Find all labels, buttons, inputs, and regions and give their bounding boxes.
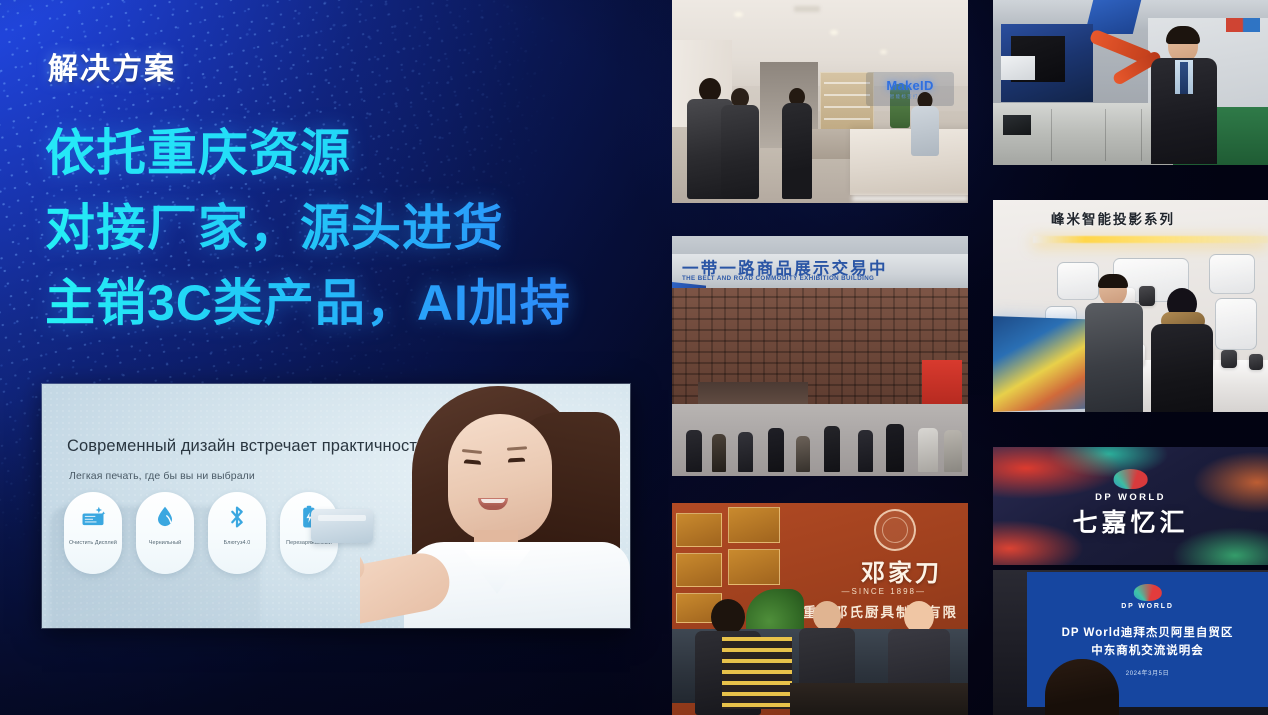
photo-dpworld-banner: DP WORLD 七嘉忆汇 bbox=[993, 447, 1268, 565]
dpworld-banner-headline: 七嘉忆汇 bbox=[1072, 503, 1188, 539]
screen-title-line-2: 中东商机交流说明会 bbox=[1091, 642, 1204, 658]
photo-makeid-lobby: MakeID 智能标签打印机 bbox=[672, 0, 968, 203]
solution-slide: 解决方案 依托重庆资源 对接厂家，源头进货 主销3C类产品，AI加持 Совре… bbox=[0, 0, 1268, 715]
photo-dpworld-screen: DP WORLD DP World迪拜杰贝阿里自贸区 中东商机交流说明会 202… bbox=[993, 570, 1268, 715]
photo-factory-robot bbox=[993, 0, 1268, 165]
feature-item-bluetooth: Блютуз4.0 bbox=[208, 492, 266, 574]
dengjiadao-since: —SINCE 1898— bbox=[842, 587, 926, 596]
display-clean-icon bbox=[79, 503, 107, 531]
section-eyebrow: 解决方案 bbox=[48, 44, 176, 88]
showroom-visitor-female bbox=[1151, 288, 1213, 412]
headline-block: 依托重庆资源 对接厂家，源头进货 主销3C类产品，AI加持 bbox=[45, 116, 665, 341]
dpworld-mark-icon bbox=[1133, 584, 1161, 601]
dpworld-logo: DP WORLD bbox=[1095, 469, 1166, 503]
slide-subtitle: Легкая печать, где бы вы ни выбрали bbox=[69, 470, 255, 482]
certification-sticker bbox=[1226, 18, 1260, 32]
headline-line-3: 主销3C类产品，AI加持 bbox=[45, 266, 665, 341]
headline-line-1: 依托重庆资源 bbox=[45, 116, 665, 191]
photo-belt-road-building: 一带一路商品展示交易中 THE BELT AND ROAD COMMODITY … bbox=[672, 236, 968, 476]
feature-item-ink: Чернильный bbox=[136, 492, 194, 574]
belt-road-sign-en: THE BELT AND ROAD COMMODITY EXHIBITION B… bbox=[682, 275, 874, 282]
feature-label: Чернильный bbox=[137, 540, 193, 547]
projector-series-sign: 峰米智能投影系列 bbox=[1051, 208, 1175, 228]
model-photo bbox=[360, 384, 630, 628]
company-seal-emblem bbox=[874, 509, 916, 551]
dpworld-wordmark: DP WORLD bbox=[1121, 603, 1173, 610]
feature-item-display-clean: Очистить Дисплей bbox=[64, 492, 122, 574]
dpworld-logo: DP WORLD bbox=[1121, 584, 1173, 610]
headline-line-2: 对接厂家，源头进货 bbox=[45, 191, 665, 266]
product-slide-mockup: Современный дизайн встречает практичност… bbox=[42, 384, 630, 628]
dpworld-mark-icon bbox=[1114, 469, 1148, 489]
screen-title-line-1: DP World迪拜杰贝阿里自贸区 bbox=[1062, 624, 1234, 640]
showroom-visitor-male bbox=[1085, 276, 1143, 412]
ink-drop-icon bbox=[151, 503, 179, 531]
bluetooth-icon bbox=[223, 503, 251, 531]
dpworld-wordmark: DP WORLD bbox=[1095, 492, 1166, 503]
dengjiadao-brand: 邓家刀 bbox=[861, 553, 942, 588]
photo-dengjiadao-meeting: 邓家刀 —SINCE 1898— 重庆邓氏厨具制造有限 bbox=[672, 503, 968, 715]
photo-projector-showroom: 峰米智能投影系列 bbox=[993, 200, 1268, 412]
feature-label: Очистить Дисплей bbox=[65, 540, 121, 547]
feature-list: Очистить Дисплей Чернильный Блютуз4 bbox=[64, 492, 338, 574]
screen-event-date: 2024年3月5日 bbox=[1126, 668, 1169, 677]
feature-label: Блютуз4.0 bbox=[209, 540, 265, 547]
makeid-logo-text: MakeID bbox=[886, 78, 933, 93]
factory-staff bbox=[1151, 28, 1217, 164]
